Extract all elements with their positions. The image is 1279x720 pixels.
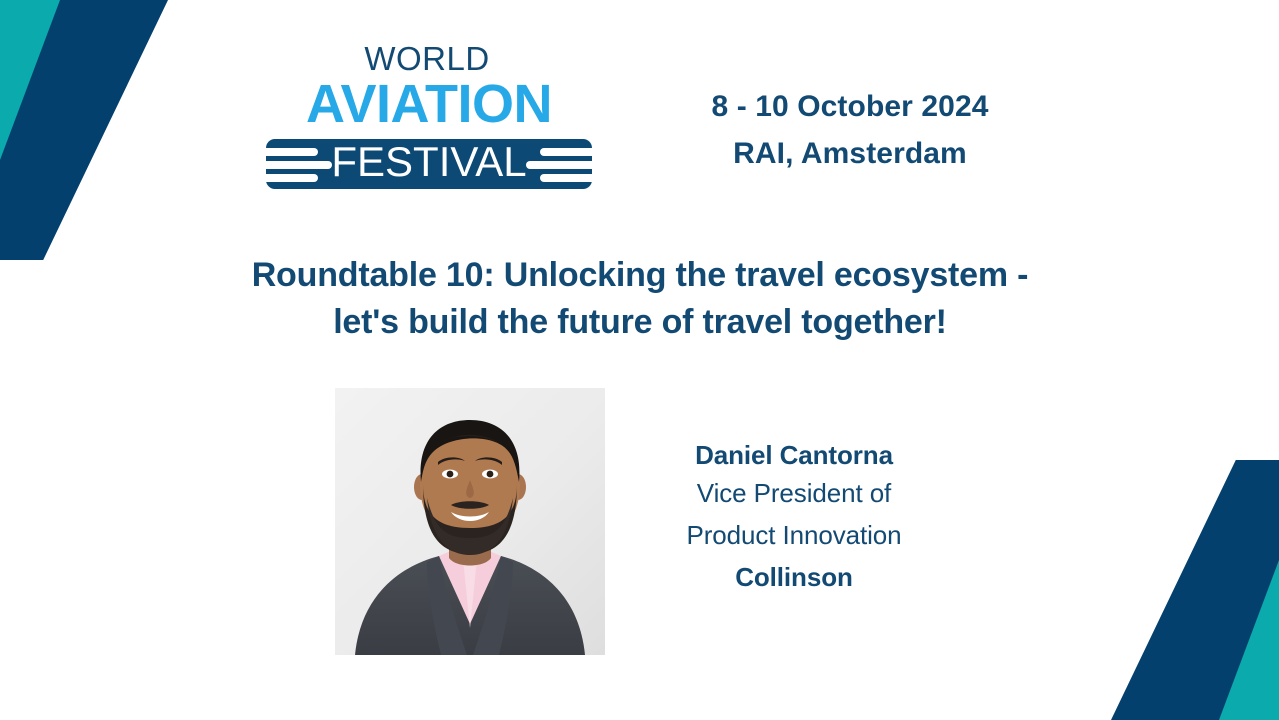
speaker-photo: [335, 388, 605, 655]
logo-festival-banner: FESTIVAL: [266, 135, 592, 192]
event-venue: RAI, Amsterdam: [640, 131, 1060, 178]
speaker-role-line-1: Vice President of: [634, 472, 954, 514]
presentation-slide: WORLD AVIATION FESTIVAL 8 - 10 October 2…: [0, 0, 1279, 720]
session-title: Roundtable 10: Unlocking the travel ecos…: [110, 252, 1170, 345]
speaker-company: Collinson: [634, 559, 954, 597]
bottom-right-corner-decoration: [1029, 460, 1279, 720]
speaker-details: Daniel Cantorna Vice President of Produc…: [634, 438, 954, 596]
event-details: 8 - 10 October 2024 RAI, Amsterdam: [640, 84, 1060, 177]
speaker-photo-illustration: [335, 388, 605, 655]
logo-word-aviation: AVIATION: [266, 77, 592, 132]
world-aviation-festival-logo: WORLD AVIATION FESTIVAL: [266, 42, 592, 192]
speaker-role-line-2: Product Innovation: [634, 514, 954, 556]
event-dates: 8 - 10 October 2024: [640, 84, 1060, 131]
logo-word-world: WORLD: [262, 42, 592, 75]
session-title-line-1: Roundtable 10: Unlocking the travel ecos…: [110, 252, 1170, 299]
top-left-corner-decoration: [0, 0, 250, 260]
logo-word-festival: FESTIVAL: [266, 141, 592, 183]
speaker-name: Daniel Cantorna: [634, 438, 954, 472]
session-title-line-2: let's build the future of travel togethe…: [110, 299, 1170, 346]
